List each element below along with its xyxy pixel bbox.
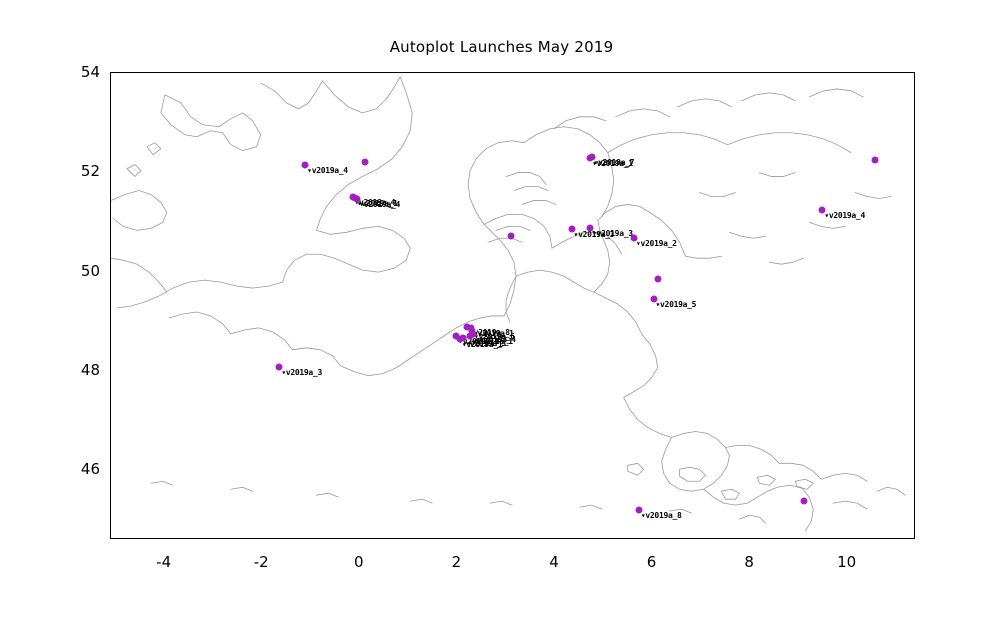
xtick-4 xyxy=(555,538,556,539)
xtick-minor-9 xyxy=(799,538,800,539)
xtick-label--4: -4 xyxy=(139,553,189,571)
data-point-label: ▾v2019a_5 xyxy=(656,300,697,309)
data-point-label: ▾v2019a_4 xyxy=(824,211,865,220)
ytick-minor-53 xyxy=(110,123,111,124)
data-point-label: ▾v2019a_1 xyxy=(462,340,503,349)
data-point-label: ▾v2019a_8 xyxy=(641,511,682,520)
data-point-label: ▾v2019a_3 xyxy=(592,229,633,238)
ytick-minor-45 xyxy=(110,520,111,521)
matplotlib-figure: Autoplot Launches May 2019 xyxy=(0,0,1003,633)
xtick-m4 xyxy=(165,538,166,539)
xtick-label--2: -2 xyxy=(236,553,286,571)
xtick-minor-1 xyxy=(409,538,410,539)
xtick-label-2: 2 xyxy=(431,553,481,571)
data-point xyxy=(655,276,662,283)
ytick-label-50: 50 xyxy=(60,262,100,280)
xtick-8 xyxy=(750,538,751,539)
data-point-label: ▾v2019a_4 xyxy=(359,200,400,209)
xtick-minor-m1 xyxy=(311,538,312,539)
xtick-6 xyxy=(653,538,654,539)
xtick-2 xyxy=(457,538,458,539)
ytick-label-46: 46 xyxy=(60,460,100,478)
ytick-label-48: 48 xyxy=(60,361,100,379)
ytick-minor-47 xyxy=(110,421,111,422)
xtick-0 xyxy=(360,538,361,539)
data-point-label: ▾v2019a_1 xyxy=(592,159,633,168)
xtick-label-6: 6 xyxy=(627,553,677,571)
xtick-minor-5 xyxy=(604,538,605,539)
ytick-52 xyxy=(110,172,111,173)
ytick-48 xyxy=(110,371,111,372)
xtick-minor-3 xyxy=(506,538,507,539)
ytick-minor-49 xyxy=(110,322,111,323)
chart-title: Autoplot Launches May 2019 xyxy=(0,38,1003,56)
ytick-54 xyxy=(110,73,111,74)
xtick-minor-11 xyxy=(897,538,898,539)
xtick-label-4: 4 xyxy=(529,553,579,571)
xtick-label-10: 10 xyxy=(822,553,872,571)
xtick-10 xyxy=(848,538,849,539)
data-point-label: ▾v2019a_2 xyxy=(636,239,677,248)
data-point-label: ▾v2019a_3 xyxy=(281,368,322,377)
ytick-label-52: 52 xyxy=(60,162,100,180)
xtick-minor-m5 xyxy=(116,538,117,539)
data-point xyxy=(361,159,368,166)
data-point xyxy=(871,156,878,163)
xtick-minor-7 xyxy=(701,538,702,539)
data-point xyxy=(508,232,515,239)
xtick-minor-m3 xyxy=(213,538,214,539)
data-point xyxy=(800,498,807,505)
ytick-50 xyxy=(110,272,111,273)
ytick-minor-51 xyxy=(110,222,111,223)
xtick-label-8: 8 xyxy=(724,553,774,571)
data-point-label: ▾v2019a_4 xyxy=(307,166,348,175)
xtick-m2 xyxy=(262,538,263,539)
ytick-label-54: 54 xyxy=(60,63,100,81)
coastline-layer xyxy=(111,73,914,538)
xtick-label-0: 0 xyxy=(334,553,384,571)
map-axes: ▾v2019a_4▾v2019a_4▾v2019a_1▾v2019a_4▾v20… xyxy=(110,72,915,539)
ytick-46 xyxy=(110,471,111,472)
